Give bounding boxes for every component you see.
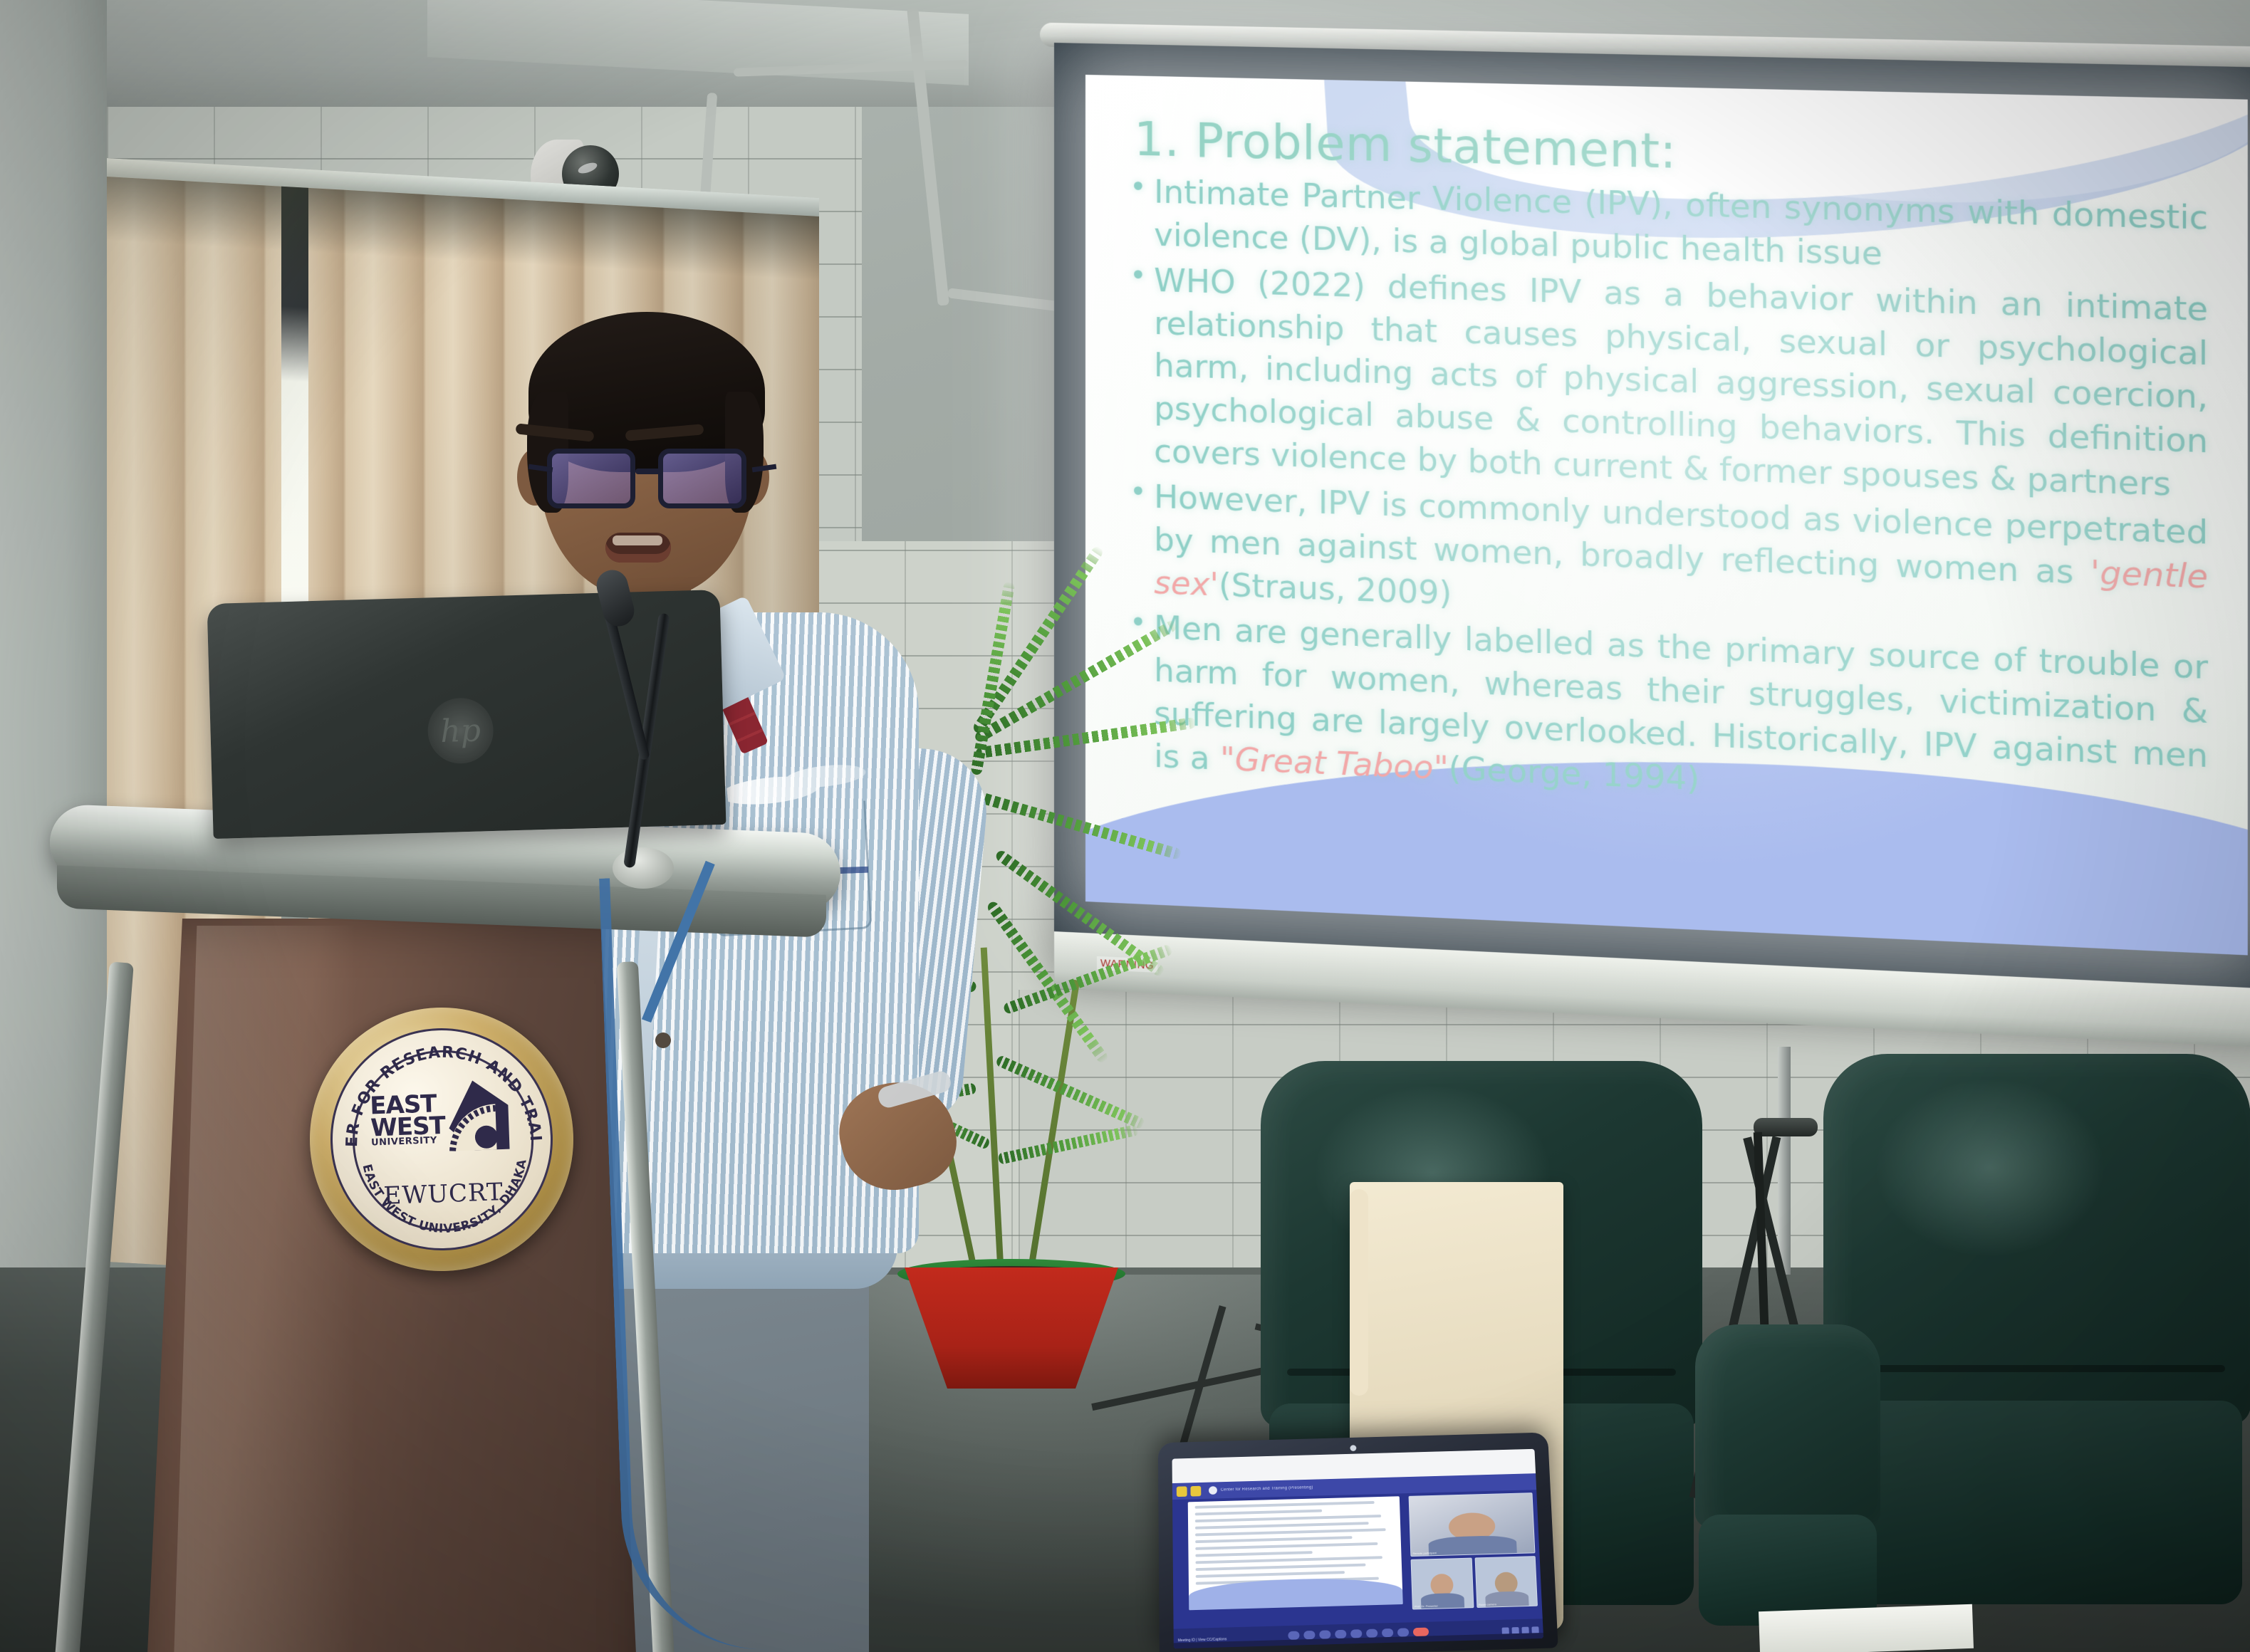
shared-slide: [1188, 1496, 1403, 1610]
participant-name: Remote participant: [1412, 1552, 1436, 1556]
reactions-icon[interactable]: [1366, 1629, 1377, 1638]
photo-scene: 1. Problem statement: Intimate Partner V…: [0, 0, 2250, 1652]
chair-front: [1695, 1324, 1880, 1652]
video-call-laptop[interactable]: Center for Research and Training (Presen…: [1158, 1432, 1558, 1652]
seal-building-icon: [433, 1075, 514, 1164]
captions-icon[interactable]: [1319, 1630, 1330, 1638]
meeting-tab-title: Center for Research and Training (Presen…: [1221, 1485, 1313, 1492]
tab-chip[interactable]: [1177, 1486, 1187, 1497]
microphone-toggle-icon[interactable]: [1288, 1631, 1299, 1640]
citation-george: (George, 1994): [1449, 749, 1700, 798]
emphasis-great-taboo: "Great Taboo": [1220, 740, 1449, 788]
eyeglasses-icon: [540, 446, 756, 514]
info-icon[interactable]: [1397, 1628, 1409, 1636]
participant-tile[interactable]: Room camera: [1474, 1557, 1538, 1608]
seal-acronym: EWUCRT: [368, 1177, 519, 1211]
chair-right: [1823, 1054, 2250, 1652]
participant-name: Prof. Dr. Presenter: [1415, 1604, 1438, 1608]
webcam-icon: [1350, 1445, 1356, 1451]
citation-straus: (Straus, 2009): [1219, 565, 1452, 612]
present-screen-icon[interactable]: [1335, 1630, 1346, 1638]
participant-tiles: Remote participant Prof. Dr. Presenter R…: [1409, 1492, 1538, 1609]
screen-frame: 1. Problem statement: Intimate Partner V…: [1054, 43, 2250, 1028]
slide-bullet: Men are generally labelled as the primar…: [1124, 605, 2208, 822]
meeting-avatar: [1209, 1486, 1217, 1495]
participant-tile[interactable]: Remote participant: [1409, 1492, 1536, 1557]
participant-tile[interactable]: Prof. Dr. Presenter: [1411, 1558, 1474, 1609]
projection-screen: 1. Problem statement: Intimate Partner V…: [1054, 6, 2250, 1115]
camera-toggle-icon[interactable]: [1303, 1631, 1315, 1639]
slide-bullet-list: Intimate Partner Violence (IPV), often s…: [1124, 169, 2208, 822]
presentation-slide: 1. Problem statement: Intimate Partner V…: [1085, 75, 2248, 956]
raise-hand-icon[interactable]: [1350, 1629, 1362, 1638]
paper-sheet: [1759, 1604, 1974, 1652]
participant-name: Room camera: [1479, 1602, 1496, 1606]
university-seal: CENTER FOR RESEARCH AND TRAINING EAST WE…: [306, 1003, 578, 1276]
teeth: [613, 535, 662, 545]
leave-call-button[interactable]: [1413, 1628, 1429, 1636]
meeting-stage: Remote participant Prof. Dr. Presenter R…: [1172, 1490, 1543, 1629]
slide-bullet: WHO (2022) defines IPV as a behavior wit…: [1124, 258, 2208, 507]
video-call-screen[interactable]: Center for Research and Training (Presen…: [1172, 1449, 1544, 1649]
more-options-icon[interactable]: [1382, 1629, 1393, 1637]
tab-chip[interactable]: [1190, 1485, 1201, 1496]
